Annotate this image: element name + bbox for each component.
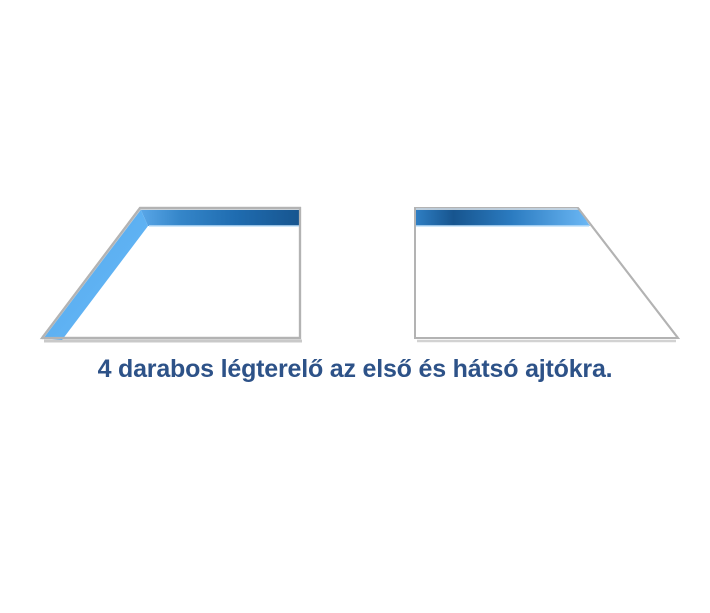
front-window-glass bbox=[42, 208, 300, 338]
product-illustration-page: 4 darabos légterelő az első és hátsó ajt… bbox=[0, 0, 710, 613]
rear-deflector-top-band bbox=[415, 208, 590, 226]
shape-rear-door-window bbox=[415, 208, 678, 341]
product-caption: 4 darabos légterelő az első és hátsó ajt… bbox=[0, 352, 710, 386]
shape-front-door-window bbox=[42, 208, 302, 341]
window-deflector-diagram bbox=[0, 0, 710, 350]
front-deflector-top-band bbox=[140, 208, 300, 226]
rear-window-glass bbox=[415, 208, 678, 338]
diagram-svg bbox=[0, 0, 710, 350]
